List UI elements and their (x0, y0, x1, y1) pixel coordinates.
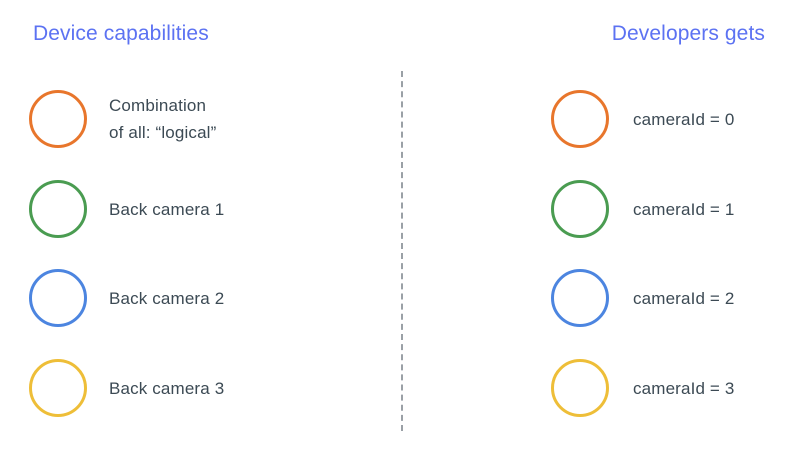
list-item-label: Back camera 1 (109, 196, 224, 223)
list-item: cameraId = 3 (551, 358, 796, 418)
list-item-label: cameraId = 3 (633, 375, 735, 402)
circle-outline-orange-icon (29, 90, 87, 148)
circle-outline-yellow-icon (29, 359, 87, 417)
list-item-label: cameraId = 1 (633, 196, 735, 223)
list-item-label: Back camera 3 (109, 375, 224, 402)
circle-outline-green-icon (551, 180, 609, 238)
list-item: cameraId = 0 (551, 89, 796, 149)
diagram-canvas: Device capabilities Developers gets Comb… (0, 0, 800, 467)
list-item: cameraId = 1 (551, 179, 796, 239)
list-item-label: cameraId = 0 (633, 106, 735, 133)
list-item: Back camera 3 (29, 358, 369, 418)
column-divider (401, 71, 403, 431)
circle-outline-orange-icon (551, 90, 609, 148)
circle-outline-blue-icon (29, 269, 87, 327)
list-item-label: cameraId = 2 (633, 285, 735, 312)
list-item: cameraId = 2 (551, 268, 796, 328)
list-item: Combination of all: “logical” (29, 89, 369, 149)
list-item: Back camera 2 (29, 268, 369, 328)
right-column-title: Developers gets (612, 21, 765, 47)
circle-outline-yellow-icon (551, 359, 609, 417)
list-item: Back camera 1 (29, 179, 369, 239)
list-item-label: Combination of all: “logical” (109, 92, 216, 146)
left-column-title: Device capabilities (33, 21, 209, 47)
list-item-label: Back camera 2 (109, 285, 224, 312)
circle-outline-blue-icon (551, 269, 609, 327)
circle-outline-green-icon (29, 180, 87, 238)
